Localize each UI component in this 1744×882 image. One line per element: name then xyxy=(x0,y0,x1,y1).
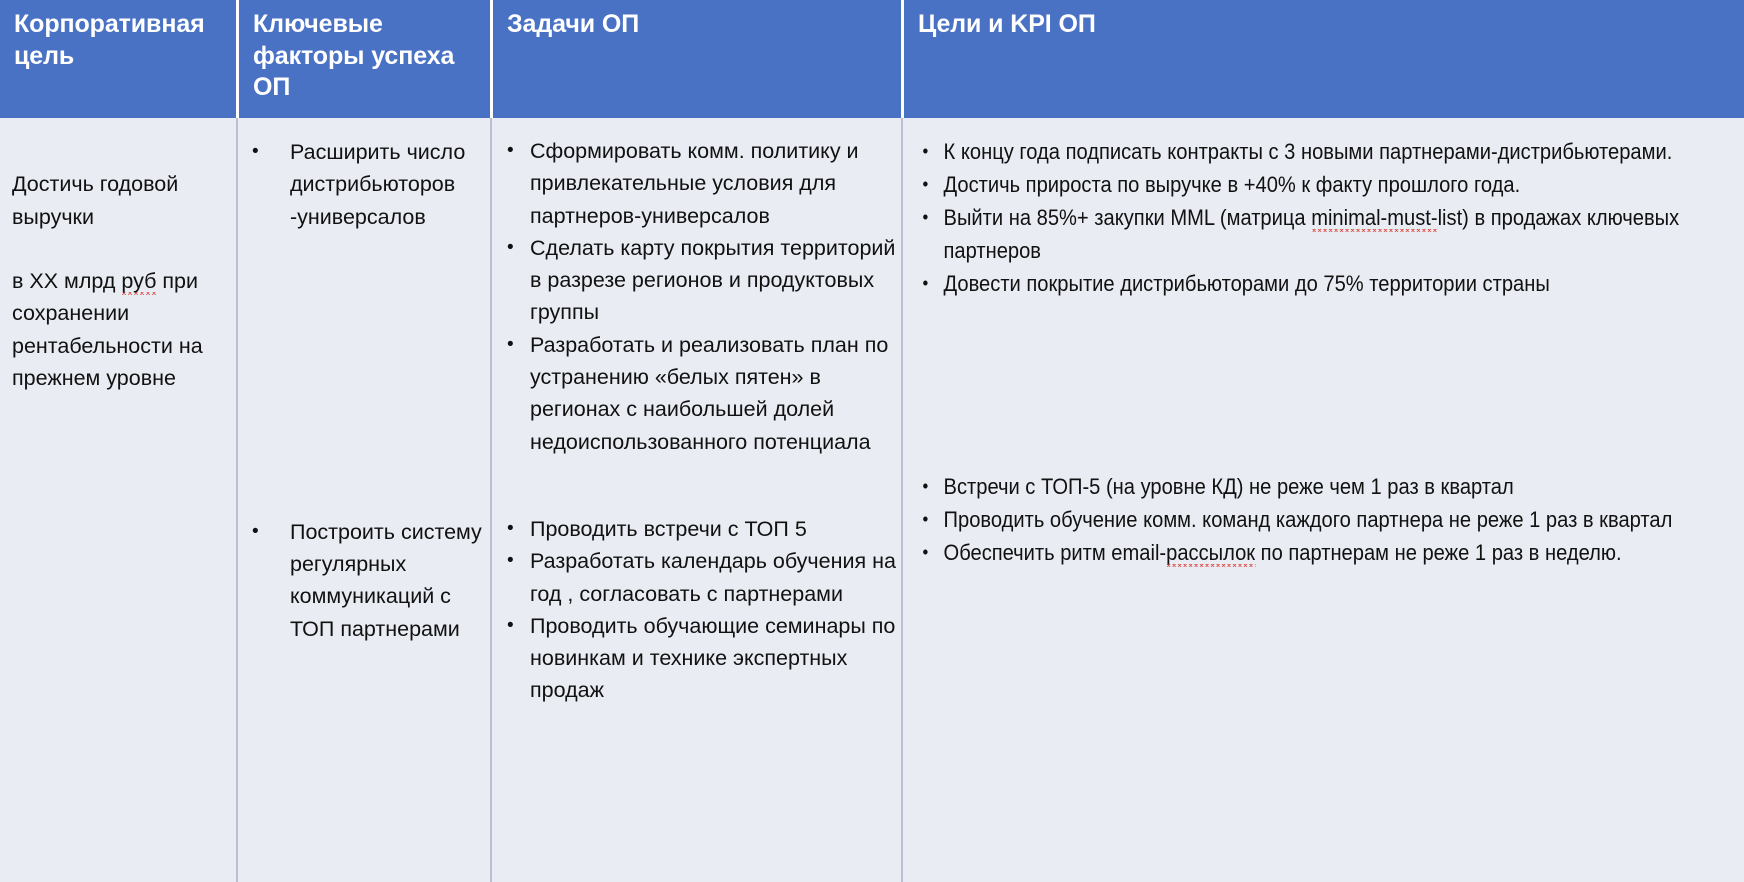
list-item: Сделать карту покрытия территорий в разр… xyxy=(502,232,897,329)
spacer xyxy=(492,458,901,513)
okr-table-slide: Корпоративная цель Ключевые факторы успе… xyxy=(0,0,1744,882)
kpi-text-before: Обеспечить ритм email- xyxy=(944,540,1167,565)
cell-success-factors: Расширить число дистрибьюторов -универса… xyxy=(236,118,490,882)
corporate-goal-text: Достичь годовой выручки в XX млрд руб пр… xyxy=(0,118,236,394)
list-item: Проводить встречи с ТОП 5 xyxy=(502,513,897,545)
kpi-text-after: по партнерам не реже 1 раз в неделю. xyxy=(1255,540,1621,565)
kpi-list-group-2: Встречи с ТОП-5 (на уровне КД) не реже ч… xyxy=(903,470,1744,569)
table-body-row: Достичь годовой выручки в XX млрд руб пр… xyxy=(0,118,1744,882)
list-item: Разработать календарь обучения на год , … xyxy=(502,545,897,610)
spacer xyxy=(903,300,1744,470)
list-item: Встречи с ТОП-5 (на уровне КД) не реже ч… xyxy=(917,470,1732,503)
cell-tasks: Сформировать комм. политику и привлекате… xyxy=(490,118,901,882)
list-item: К концу года подписать контракты с 3 нов… xyxy=(917,135,1732,168)
column-header-corporate-goal: Корпоративная цель xyxy=(0,0,236,118)
kpi-list-group-1: К концу года подписать контракты с 3 нов… xyxy=(903,118,1744,300)
spellcheck-word-rub: руб xyxy=(121,269,156,296)
list-item: Выйти на 85%+ закупки MML (матрица minim… xyxy=(917,201,1732,267)
tasks-list-group-2: Проводить встречи с ТОП 5 Разработать ка… xyxy=(492,513,901,707)
list-item: Построить систему регулярных коммуникаци… xyxy=(238,516,484,645)
column-header-goals-kpi: Цели и KPI ОП xyxy=(901,0,1744,118)
table-header-row: Корпоративная цель Ключевые факторы успе… xyxy=(0,0,1744,118)
list-item: Проводить обучающие семинары по новинкам… xyxy=(502,610,897,707)
list-item: Сформировать комм. политику и привлекате… xyxy=(502,135,897,232)
list-item: Разработать и реализовать план по устран… xyxy=(502,329,897,458)
list-item: Проводить обучение комм. команд каждого … xyxy=(917,503,1732,536)
spellcheck-word-rassylok: рассылок xyxy=(1166,540,1255,568)
success-factors-list-2: Построить систему регулярных коммуникаци… xyxy=(238,516,490,645)
goal-line-1: Достичь годовой выручки xyxy=(12,172,178,228)
kpi-text-before: Выйти на 85%+ закупки MML (матрица xyxy=(944,205,1312,230)
spacer xyxy=(238,233,490,516)
column-header-tasks: Задачи ОП xyxy=(490,0,901,118)
list-item: Обеспечить ритм email-рассылок по партне… xyxy=(917,536,1732,569)
success-factors-list: Расширить число дистрибьюторов -универса… xyxy=(238,118,490,233)
column-header-success-factors: Ключевые факторы успеха ОП xyxy=(236,0,490,118)
cell-goals-kpi: К концу года подписать контракты с 3 нов… xyxy=(901,118,1744,882)
cell-corporate-goal: Достичь годовой выручки в XX млрд руб пр… xyxy=(0,118,236,882)
list-item: Расширить число дистрибьюторов -универса… xyxy=(238,136,484,233)
list-item: Довести покрытие дистрибьюторами до 75% … xyxy=(917,267,1732,300)
spellcheck-word-minimal-must: minimal-must- xyxy=(1311,205,1437,233)
list-item: Достичь прироста по выручке в +40% к фак… xyxy=(917,168,1732,201)
tasks-list-group-1: Сформировать комм. политику и привлекате… xyxy=(492,118,901,458)
goal-line-2: в XX млрд руб при сохранении рентабельно… xyxy=(12,269,203,390)
